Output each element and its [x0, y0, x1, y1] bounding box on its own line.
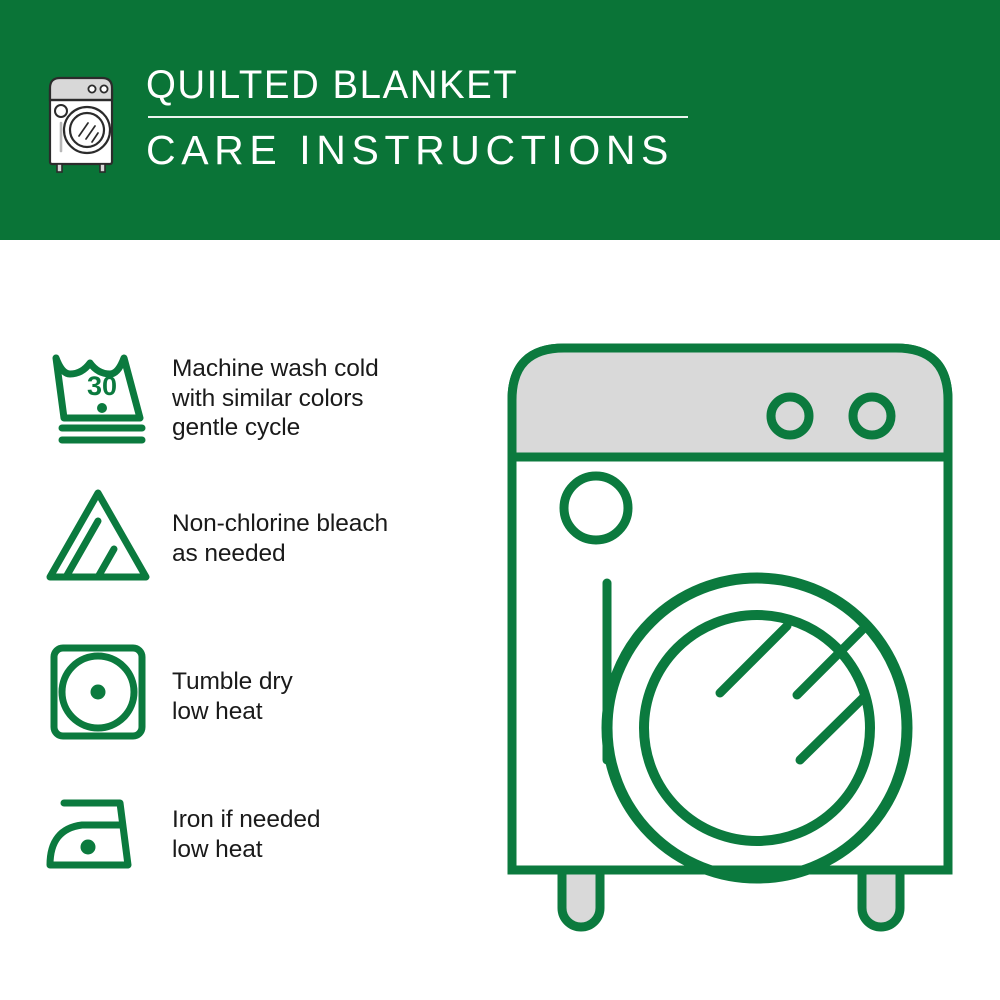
care-text-dry: Tumble dry low heat: [172, 667, 293, 726]
care-text-wash: Machine wash cold with similar colors ge…: [172, 354, 379, 443]
care-row-wash: 30 Machine wash cold with similar colors…: [44, 340, 494, 450]
care-row-bleach: Non-chlorine bleach as needed: [44, 483, 494, 593]
washing-machine-icon: [44, 66, 128, 174]
page-title-primary: QUILTED BLANKET: [146, 62, 666, 108]
front-load-washing-machine-illustration: [470, 320, 990, 940]
care-row-iron: Iron if needed low heat: [44, 785, 494, 895]
title-divider: [148, 116, 688, 118]
washer-leg-right: [862, 870, 900, 927]
tumble-dry-low-heat-icon: [44, 640, 160, 750]
care-text-bleach: Non-chlorine bleach as needed: [172, 509, 388, 568]
washer-knob-2[interactable]: [853, 397, 891, 435]
care-row-dry: Tumble dry low heat: [44, 640, 494, 750]
iron-low-heat-icon: [44, 785, 160, 895]
title-block: QUILTED BLANKET CARE INSTRUCTIONS: [146, 62, 688, 174]
machine-wash-30-gentle-icon: 30: [44, 340, 160, 450]
washer-leg-left: [562, 870, 600, 927]
care-text-iron: Iron if needed low heat: [172, 805, 320, 864]
washer-knob-1[interactable]: [771, 397, 809, 435]
page-title-secondary: CARE INSTRUCTIONS: [146, 126, 688, 174]
wash-temperature-label: 30: [87, 371, 117, 401]
header-content: QUILTED BLANKET CARE INSTRUCTIONS: [44, 62, 688, 174]
washer-indicator-light: [564, 476, 628, 540]
care-instruction-list: 30 Machine wash cold with similar colors…: [0, 240, 500, 1000]
header-banner: QUILTED BLANKET CARE INSTRUCTIONS: [0, 0, 1000, 240]
non-chlorine-bleach-icon: [44, 483, 160, 593]
